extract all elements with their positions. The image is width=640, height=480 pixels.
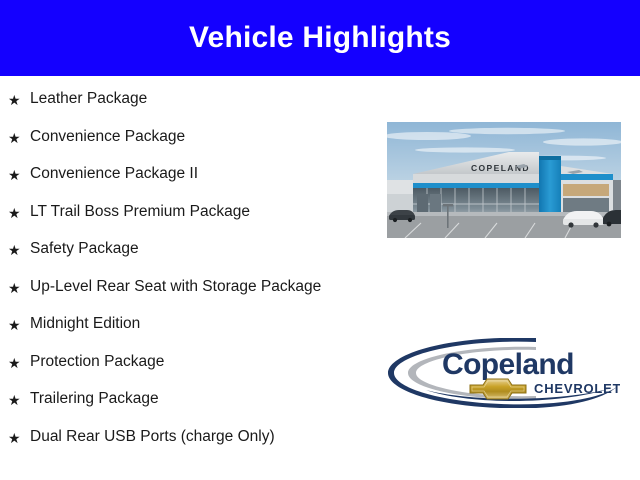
- list-item-label: Safety Package: [30, 234, 360, 258]
- list-item: ★ Trailering Package: [0, 384, 360, 422]
- copeland-chevrolet-logo: Copeland CHEVROLET: [386, 338, 620, 408]
- vehicle-highlights-list: ★ Leather Package ★ Convenience Package …: [0, 84, 360, 459]
- list-item-label: Protection Package: [30, 347, 360, 371]
- header-banner: Vehicle Highlights: [0, 0, 640, 76]
- list-item-label: LT Trail Boss Premium Package: [30, 197, 360, 221]
- logo-brand-text: CHEVROLET: [534, 381, 620, 396]
- list-item: ★ Convenience Package II: [0, 159, 360, 197]
- list-item: ★ Leather Package: [0, 84, 360, 122]
- list-item: ★ Protection Package: [0, 347, 360, 385]
- star-bullet-icon: ★: [8, 122, 30, 149]
- dealership-photo: COPELAND: [387, 122, 621, 238]
- list-item-label: Dual Rear USB Ports (charge Only): [30, 422, 360, 446]
- list-item: ★ LT Trail Boss Premium Package: [0, 197, 360, 235]
- star-bullet-icon: ★: [8, 347, 30, 374]
- list-item-label: Midnight Edition: [30, 309, 360, 333]
- list-item-label: Leather Package: [30, 84, 360, 108]
- logo-wordmark: Copeland: [442, 348, 574, 381]
- star-bullet-icon: ★: [8, 272, 30, 299]
- list-item-label: Up-Level Rear Seat with Storage Package: [30, 272, 360, 296]
- list-item-label: Trailering Package: [30, 384, 360, 408]
- star-bullet-icon: ★: [8, 234, 30, 261]
- star-bullet-icon: ★: [8, 309, 30, 336]
- star-bullet-icon: ★: [8, 159, 30, 186]
- list-item: ★ Dual Rear USB Ports (charge Only): [0, 422, 360, 460]
- star-bullet-icon: ★: [8, 197, 30, 224]
- slide-canvas: Vehicle Highlights ★ Leather Package ★ C…: [0, 0, 640, 480]
- star-bullet-icon: ★: [8, 84, 30, 111]
- list-item: ★ Convenience Package: [0, 122, 360, 160]
- star-bullet-icon: ★: [8, 384, 30, 411]
- list-item: ★ Up-Level Rear Seat with Storage Packag…: [0, 272, 360, 310]
- star-bullet-icon: ★: [8, 422, 30, 449]
- list-item: ★ Midnight Edition: [0, 309, 360, 347]
- list-item-label: Convenience Package II: [30, 159, 360, 183]
- list-item-label: Convenience Package: [30, 122, 360, 146]
- page-title: Vehicle Highlights: [189, 23, 451, 53]
- list-item: ★ Safety Package: [0, 234, 360, 272]
